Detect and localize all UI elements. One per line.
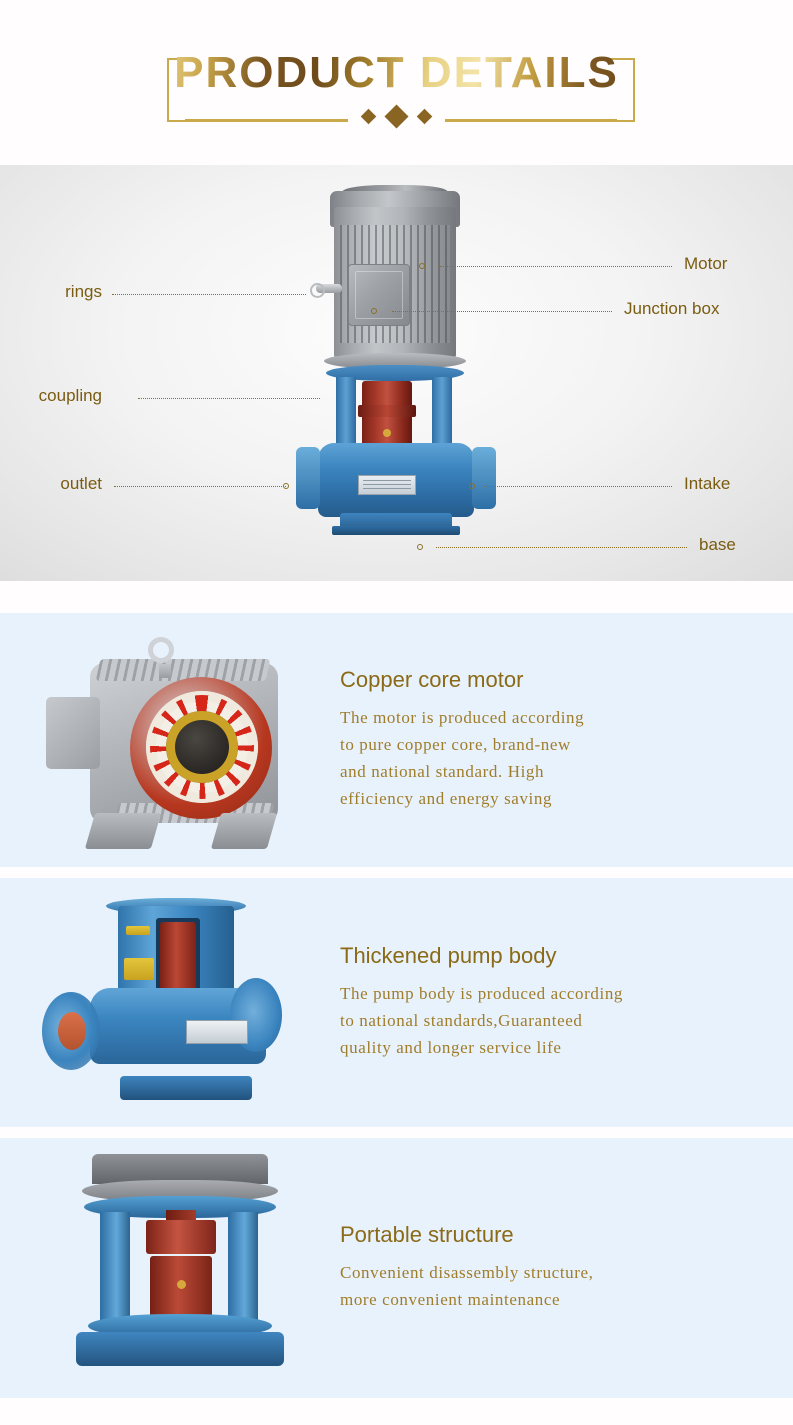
bracket-leg-left (336, 377, 356, 449)
spacer-coupling (160, 922, 196, 996)
callout-label-junction-box: Junction box (624, 299, 719, 319)
bracket-column-left (100, 1212, 130, 1320)
pump-nameplate (186, 1020, 248, 1044)
leader-line-rings (112, 294, 306, 295)
bracket-column-right (228, 1212, 258, 1320)
leader-line-outlet (114, 486, 286, 487)
feature-title: Portable structure (340, 1222, 773, 1248)
motor-cooling-fins-top (96, 659, 271, 681)
feature-title: Copper core motor (340, 667, 773, 693)
warning-label-small (126, 926, 150, 935)
feature-card-thickened-pump-body: Thickened pump body The pump body is pro… (0, 878, 793, 1127)
page-title: PRODUCT DETAILS (0, 48, 793, 98)
leader-marker-motor (419, 263, 425, 269)
callout-label-intake: Intake (684, 474, 730, 494)
leader-marker-intake (469, 483, 475, 489)
leader-marker-junction-box (371, 308, 377, 314)
lifting-eye-icon (148, 637, 174, 663)
diamond-icon-small-right (417, 109, 433, 125)
bracket-leg-right (432, 377, 452, 449)
callout-label-motor: Motor (684, 254, 727, 274)
intake-flange (472, 447, 496, 509)
pump-base-foot (120, 1076, 252, 1100)
leader-line-intake (484, 486, 672, 487)
feature-image-portable-structure (0, 1138, 340, 1398)
feature-card-copper-core-motor: Copper core motor The motor is produced … (0, 613, 793, 867)
feature-description: The motor is produced according to pure … (340, 705, 773, 812)
leader-line-motor (440, 266, 672, 267)
suction-flange (42, 992, 100, 1070)
page-header: PRODUCT DETAILS (0, 0, 793, 165)
warning-label-large (124, 958, 154, 980)
pump-base (340, 513, 452, 535)
coupling-upper-half (146, 1220, 216, 1254)
outlet-flange (296, 447, 320, 509)
diamond-icon-large (384, 105, 408, 129)
pump-illustration (296, 185, 496, 575)
feature-image-copper-core-motor (0, 613, 340, 867)
mounting-foot-right (211, 813, 277, 849)
diamond-ornament-group (0, 108, 793, 126)
feature-text-copper-core-motor: Copper core motor The motor is produced … (340, 667, 793, 812)
hero-diagram: rings coupling outlet Motor Junction box… (0, 165, 793, 581)
callout-label-outlet: outlet (30, 474, 102, 494)
feature-description: Convenient disassembly structure, more c… (340, 1260, 773, 1314)
copper-windings (166, 711, 238, 783)
pump-casing-top (76, 1332, 284, 1366)
feature-card-portable-structure: Portable structure Convenient disassembl… (0, 1138, 793, 1398)
callout-label-coupling: coupling (20, 386, 102, 406)
pump-nameplate (358, 475, 416, 495)
lifting-ring (316, 284, 342, 293)
junction-box (348, 264, 410, 326)
feature-text-thickened-pump-body: Thickened pump body The pump body is pro… (340, 943, 793, 1062)
diamond-icon-small-left (360, 109, 376, 125)
feature-description: The pump body is produced according to n… (340, 981, 773, 1062)
feature-title: Thickened pump body (340, 943, 773, 969)
terminal-box (46, 697, 100, 769)
callout-label-rings: rings (30, 282, 102, 302)
product-details-page: PRODUCT DETAILS (0, 0, 793, 1425)
leader-line-junction-box (392, 311, 612, 312)
mounting-foot-left (85, 813, 161, 849)
callout-label-base: base (699, 535, 736, 555)
leader-line-coupling (138, 398, 320, 399)
leader-marker-outlet (283, 483, 289, 489)
coupling-lower-half (150, 1256, 212, 1322)
leader-marker-base (417, 544, 423, 550)
leader-line-base (436, 547, 687, 548)
feature-text-portable-structure: Portable structure Convenient disassembl… (340, 1222, 793, 1314)
feature-image-thickened-pump-body (0, 878, 340, 1127)
